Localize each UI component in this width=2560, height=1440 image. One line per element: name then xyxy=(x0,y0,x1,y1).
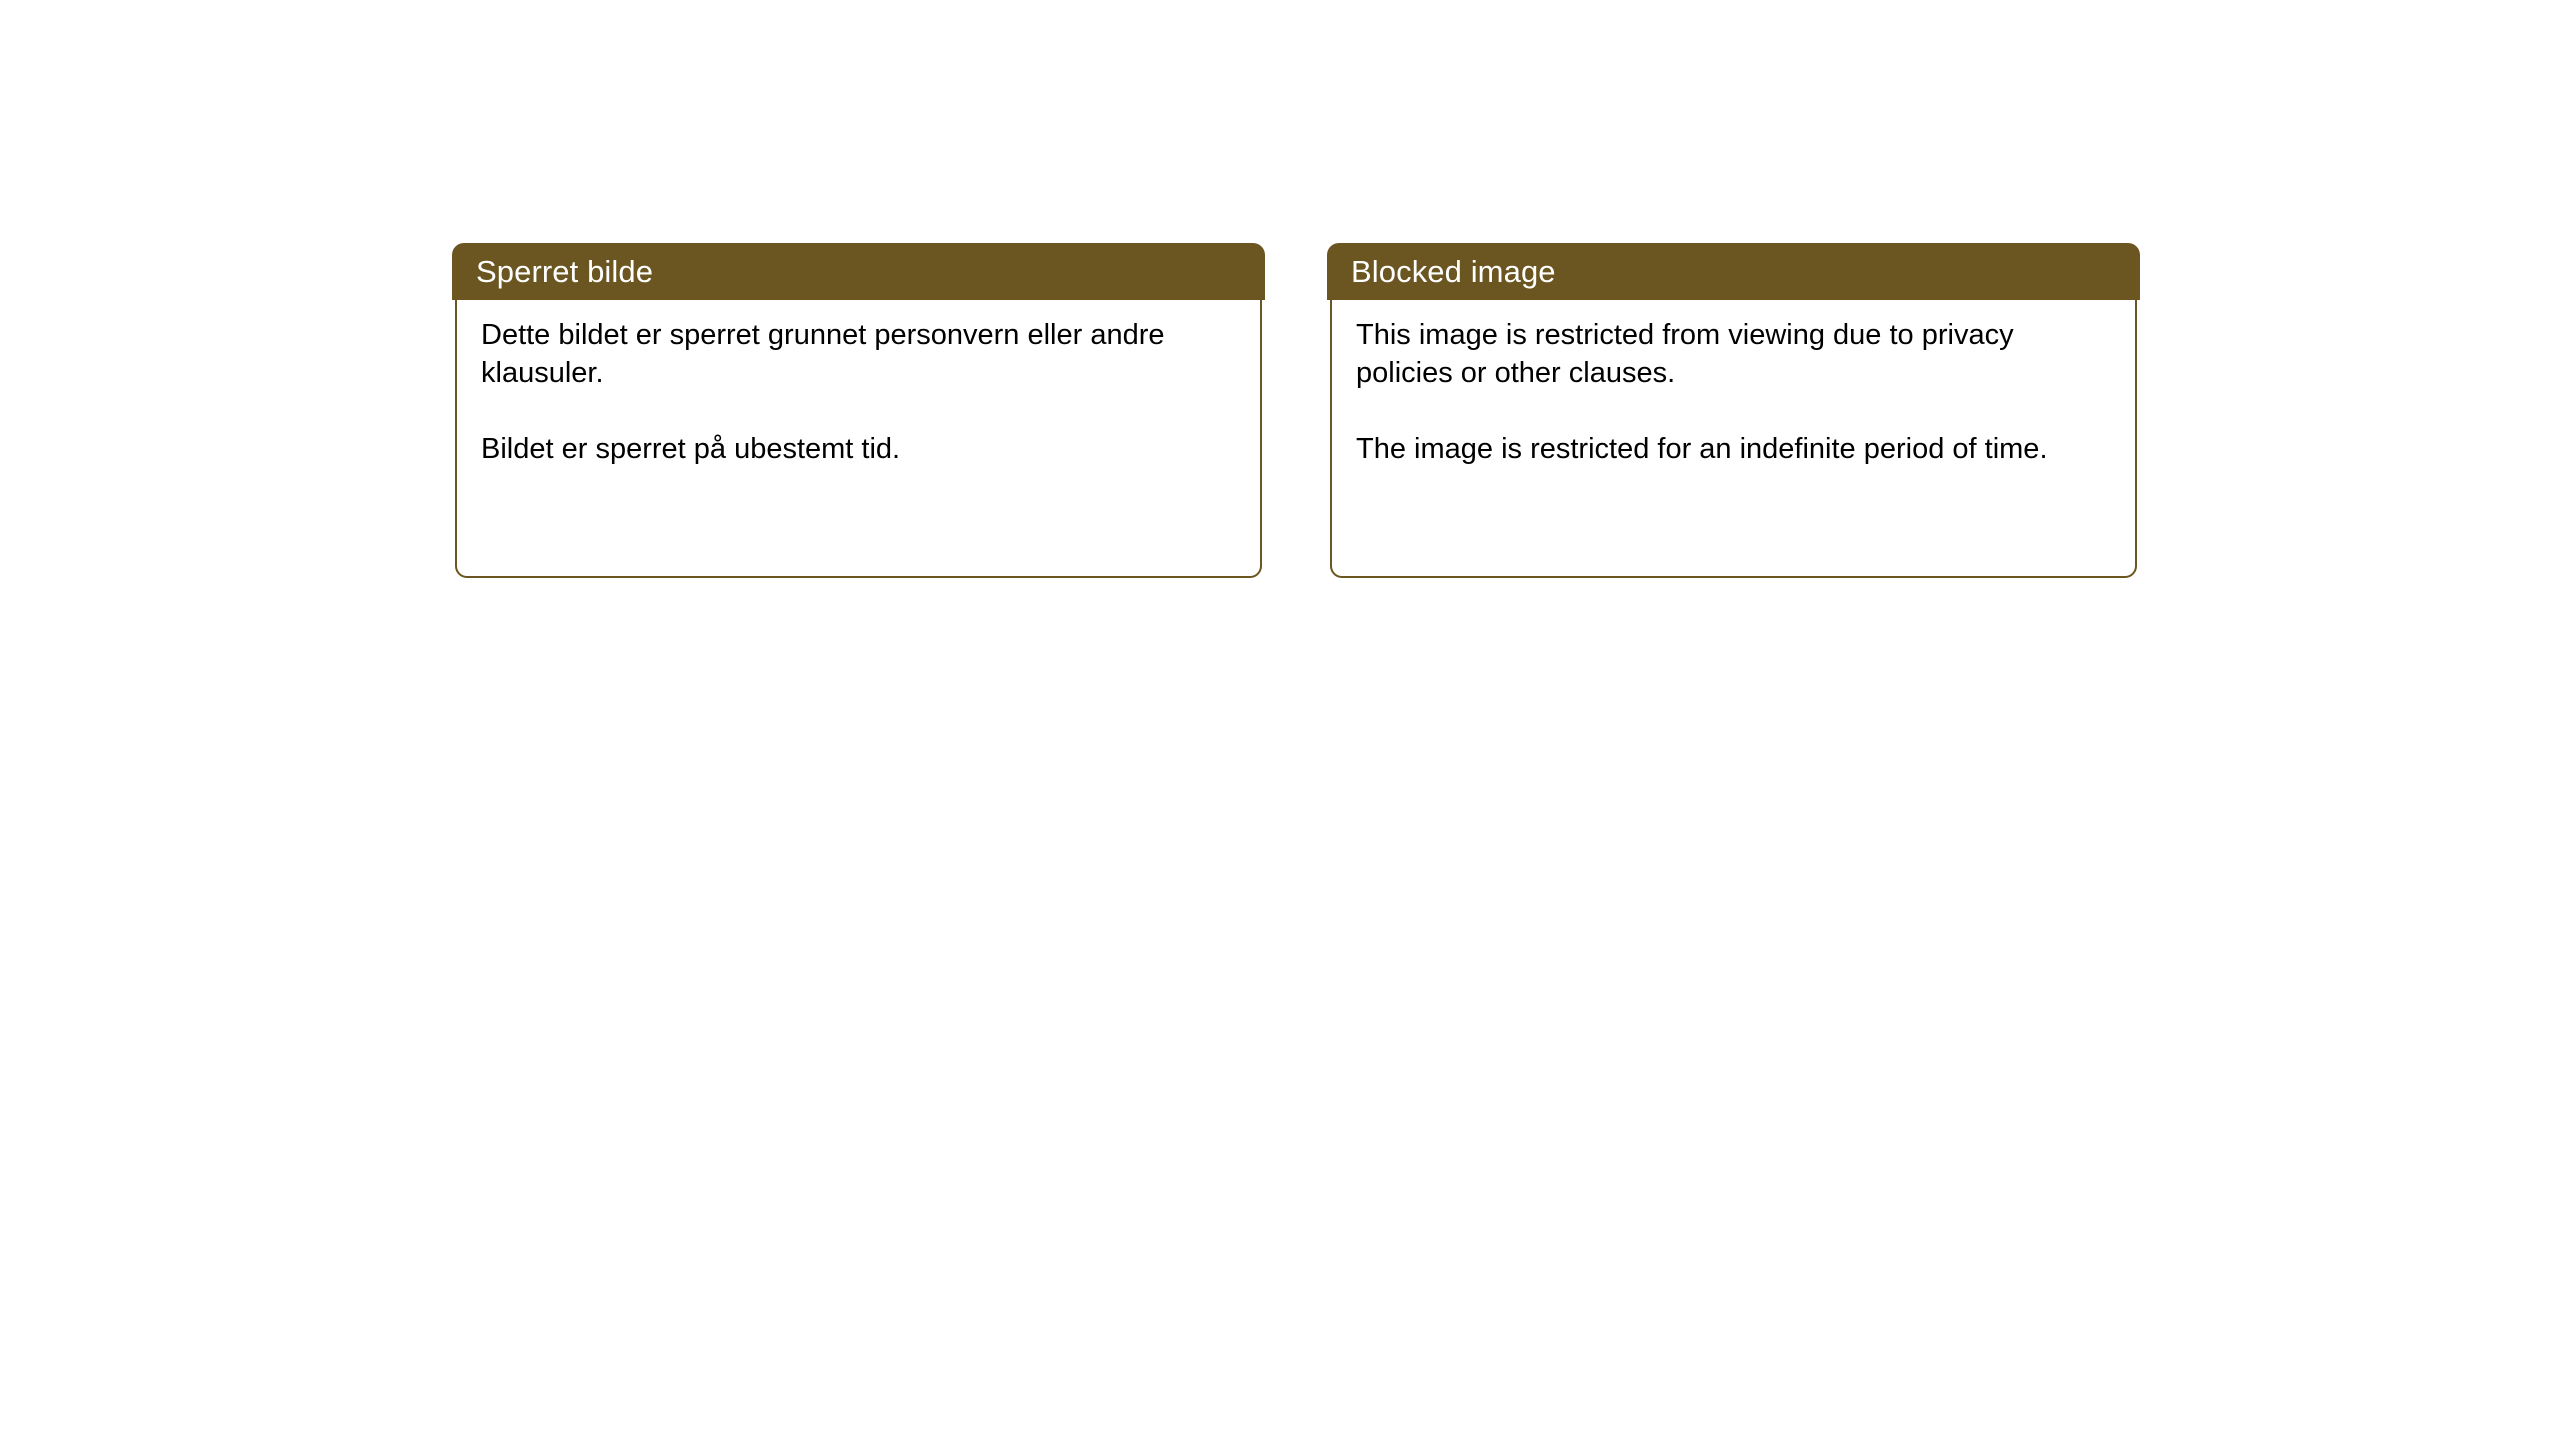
page-canvas: Sperret bilde Dette bildet er sperret gr… xyxy=(0,0,2560,1440)
panel-paragraph-duration-no: Bildet er sperret på ubestemt tid. xyxy=(481,430,1234,468)
panel-header-en: Blocked image xyxy=(1327,243,2140,300)
panel-header-no: Sperret bilde xyxy=(452,243,1265,300)
panel-title-en: Blocked image xyxy=(1351,255,1556,289)
panel-paragraph-privacy-en: This image is restricted from viewing du… xyxy=(1356,316,2109,392)
panel-body-no: Dette bildet er sperret grunnet personve… xyxy=(455,298,1262,578)
panel-paragraph-privacy-no: Dette bildet er sperret grunnet personve… xyxy=(481,316,1234,392)
blocked-image-notice-en: Blocked image This image is restricted f… xyxy=(1327,243,2140,578)
panel-title-no: Sperret bilde xyxy=(476,255,653,289)
blocked-image-notice-no: Sperret bilde Dette bildet er sperret gr… xyxy=(452,243,1265,578)
panel-paragraph-duration-en: The image is restricted for an indefinit… xyxy=(1356,430,2109,468)
panel-body-en: This image is restricted from viewing du… xyxy=(1330,298,2137,578)
